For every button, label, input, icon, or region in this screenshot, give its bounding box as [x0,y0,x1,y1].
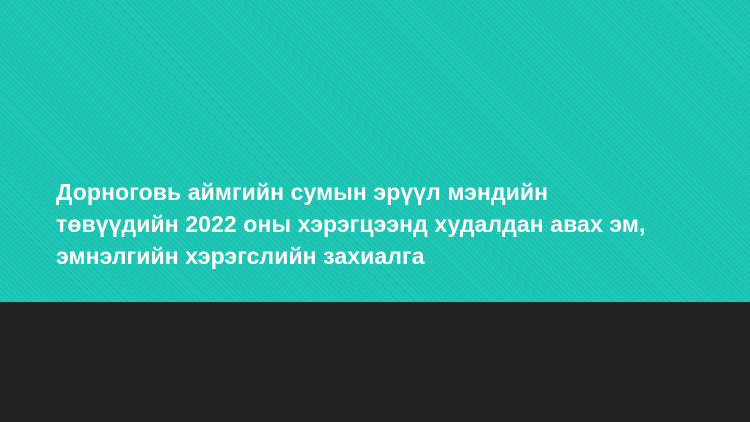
page-title: Дорноговь аймгийн сумын эрүүл мэндийн тө… [56,176,696,272]
title-line-2: төвүүдийн 2022 оны хэрэгцээнд худалдан а… [56,208,696,240]
title-slide: Дорноговь аймгийн сумын эрүүл мэндийн тө… [0,0,750,422]
title-line-3: эмнэлгийн хэрэгслийн захиалга [56,240,696,272]
lower-dark-panel [0,302,750,422]
title-line-1: Дорноговь аймгийн сумын эрүүл мэндийн [56,176,696,208]
